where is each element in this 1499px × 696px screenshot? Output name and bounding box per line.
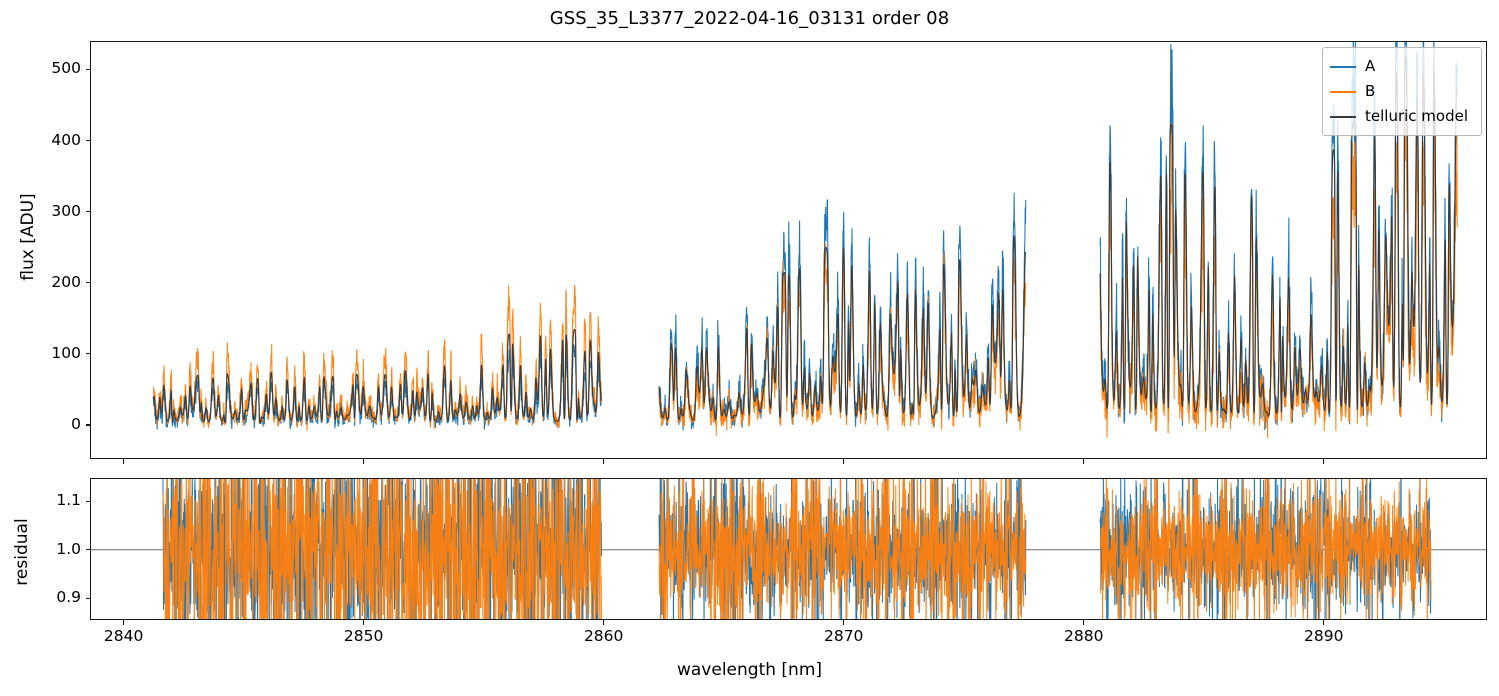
- legend-entry-b: B: [1330, 79, 1473, 104]
- legend-entry-a: A: [1330, 54, 1473, 79]
- legend-label-a: A: [1365, 59, 1375, 74]
- legend-label-telluric: telluric model: [1365, 109, 1468, 124]
- residual-panel: [90, 478, 1487, 620]
- xtick-label: 2850: [324, 627, 404, 645]
- xtick-mark-flux-panel: [843, 459, 844, 464]
- ytick-label-flux: 300: [15, 202, 81, 220]
- xtick-label: 2860: [564, 627, 644, 645]
- ytick-mark-flux: [86, 282, 91, 283]
- xtick-mark-flux-panel: [603, 459, 604, 464]
- ytick-mark-flux: [86, 69, 91, 70]
- xtick-mark-flux-panel: [1083, 459, 1084, 464]
- ytick-label-flux: 200: [15, 273, 81, 291]
- ytick-mark-flux: [86, 353, 91, 354]
- xtick-mark: [123, 620, 124, 625]
- residual-b-trace: [1100, 479, 1431, 619]
- ytick-mark-residual: [86, 598, 91, 599]
- ytick-mark-flux: [86, 140, 91, 141]
- legend-swatch-b: [1330, 91, 1356, 93]
- xtick-mark: [843, 620, 844, 625]
- figure-canvas: GSS_35_L3377_2022-04-16_03131 order 08 f…: [0, 0, 1499, 696]
- xtick-mark: [363, 620, 364, 625]
- legend-label-b: B: [1365, 84, 1375, 99]
- xtick-label: 2880: [1044, 627, 1124, 645]
- xtick-label: 2840: [84, 627, 164, 645]
- ytick-mark-flux: [86, 424, 91, 425]
- xtick-mark-flux-panel: [363, 459, 364, 464]
- figure-title: GSS_35_L3377_2022-04-16_03131 order 08: [0, 8, 1499, 29]
- ytick-mark-residual: [86, 501, 91, 502]
- ytick-label-flux: 0: [15, 415, 81, 433]
- ytick-label-flux: 500: [15, 59, 81, 77]
- legend-swatch-a: [1330, 66, 1356, 68]
- telluric-model-trace: [659, 236, 1025, 420]
- xtick-label: 2890: [1284, 627, 1364, 645]
- legend-swatch-telluric: [1330, 116, 1356, 118]
- xtick-mark: [1323, 620, 1324, 625]
- ytick-label-flux: 100: [15, 344, 81, 362]
- xtick-mark-flux-panel: [1323, 459, 1324, 464]
- xtick-label: 2870: [804, 627, 884, 645]
- ytick-mark-flux: [86, 211, 91, 212]
- xtick-mark: [1083, 620, 1084, 625]
- wavelength-axis-label: wavelength [nm]: [0, 660, 1499, 680]
- legend: A B telluric model: [1322, 47, 1482, 136]
- ytick-label-residual: 1.0: [15, 540, 81, 558]
- flux-axis-label: flux [ADU]: [18, 117, 38, 357]
- residual-plot-area: [91, 479, 1486, 619]
- ytick-label-flux: 400: [15, 131, 81, 149]
- ytick-label-residual: 1.1: [15, 491, 81, 509]
- flux-plot-area: [91, 42, 1486, 458]
- legend-entry-telluric: telluric model: [1330, 104, 1473, 129]
- ytick-label-residual: 0.9: [15, 588, 81, 606]
- xtick-mark-flux-panel: [123, 459, 124, 464]
- ytick-mark-residual: [86, 549, 91, 550]
- xtick-mark: [603, 620, 604, 625]
- flux-panel: [90, 41, 1487, 459]
